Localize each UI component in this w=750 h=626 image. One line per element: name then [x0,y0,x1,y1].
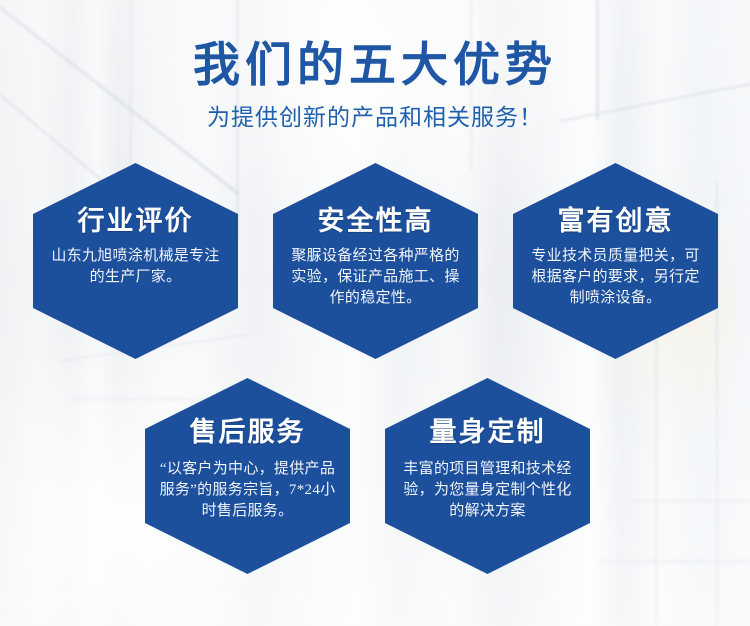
advantage-title: 行业评价 [78,207,194,237]
page-title: 我们的五大优势 [0,42,750,91]
advantage-title: 量身定制 [430,418,546,448]
advantage-title: 富有创意 [558,207,674,237]
advantage-text: 专业技术员质量把关，可根据客户的要求，另行定制喷涂设备。 [526,246,706,310]
page-subtitle: 为提供创新的产品和相关服务！ [0,104,750,132]
advantage-text: 聚脲设备经过各种严格的实验，保证产品施工、操作的稳定性。 [286,246,466,310]
advantage-text: 丰富的项目管理和技术经验，为您量身定制个性化的解决方案 [398,459,578,523]
advantage-title: 售后服务 [190,418,306,448]
advantage-text: 山东九旭喷涂机械是专注的生产厂家。 [48,246,224,289]
advantage-title: 安全性高 [318,207,434,237]
banner-header: 我们的五大优势 为提供创新的产品和相关服务！ [0,0,750,132]
advantage-text: “以客户为中心，提供产品服务”的服务宗旨，7*24小时售后服务。 [158,459,338,523]
promo-banner: 我们的五大优势 为提供创新的产品和相关服务！ 行业评价 山东九旭喷涂机械是专注的… [0,0,750,626]
